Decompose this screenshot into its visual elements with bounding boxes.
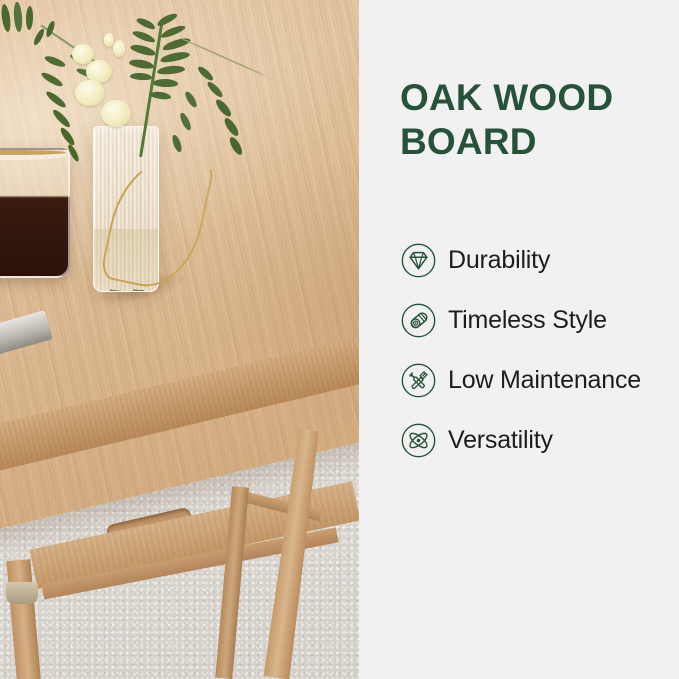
oat-spikelet	[196, 65, 215, 83]
corner-oat-blade	[26, 6, 34, 30]
oat-spikelet	[228, 135, 245, 156]
leaf-sprig	[44, 89, 67, 109]
fern-leaflet	[160, 23, 187, 39]
feature-label: Durability	[448, 246, 550, 275]
oat-spikelet	[206, 80, 225, 99]
fern-leaflet	[150, 91, 172, 101]
fern-leaflet	[128, 58, 154, 70]
corner-oat-blade	[0, 4, 12, 33]
fern-leaflet	[159, 50, 190, 64]
fern-leaflet	[130, 72, 152, 81]
fern-leaflet	[135, 16, 156, 31]
cream-flower	[101, 100, 131, 127]
atom-icon	[400, 422, 437, 459]
feature-item-low-maintenance: Low Maintenance	[400, 350, 678, 410]
feature-item-durability: Durability	[400, 230, 678, 290]
oat-spikelet	[178, 111, 193, 131]
oat-spikelet	[214, 97, 234, 118]
feature-item-versatility: Versatility	[400, 410, 678, 470]
fern-leaflet	[129, 43, 156, 58]
leaf-sprig	[32, 28, 46, 47]
cream-flower-bud	[113, 40, 125, 57]
tools-icon	[400, 362, 437, 399]
foliage-arrangement	[0, 0, 359, 320]
oat-spikelet	[171, 134, 184, 153]
leaf-sprig	[58, 126, 76, 147]
feature-item-timeless-style: Timeless Style	[400, 290, 678, 350]
wood-log-icon	[400, 302, 437, 339]
leaf-sprig	[51, 108, 72, 129]
cream-flower-bud	[104, 33, 114, 47]
page-title: Oak Wood Board	[400, 76, 668, 163]
leaf-sprig	[66, 143, 80, 163]
oat-spikelet	[183, 90, 198, 109]
fern-leaflet	[161, 36, 191, 53]
feature-label: Low Maintenance	[448, 366, 641, 395]
leaf-sprig	[43, 54, 66, 69]
oat-grass-stem	[180, 37, 267, 77]
feature-list: Durability Timeless Style	[400, 230, 678, 470]
metal-foot	[6, 582, 38, 604]
fern-leaflet	[157, 65, 186, 76]
oat-spikelet	[222, 116, 241, 138]
diamond-icon	[400, 242, 437, 279]
product-photo	[0, 0, 359, 679]
feature-label: Versatility	[448, 426, 553, 455]
fern-leaflet	[153, 79, 178, 88]
info-panel: Oak Wood Board Durability	[359, 0, 679, 679]
corner-oat-blade	[13, 2, 23, 32]
product-feature-card: Oak Wood Board Durability	[0, 0, 679, 679]
feature-label: Timeless Style	[448, 306, 607, 335]
fern-leaflet	[156, 11, 179, 28]
fern-leaflet	[132, 29, 157, 44]
cream-flower	[75, 80, 105, 106]
leaf-sprig	[40, 70, 64, 88]
